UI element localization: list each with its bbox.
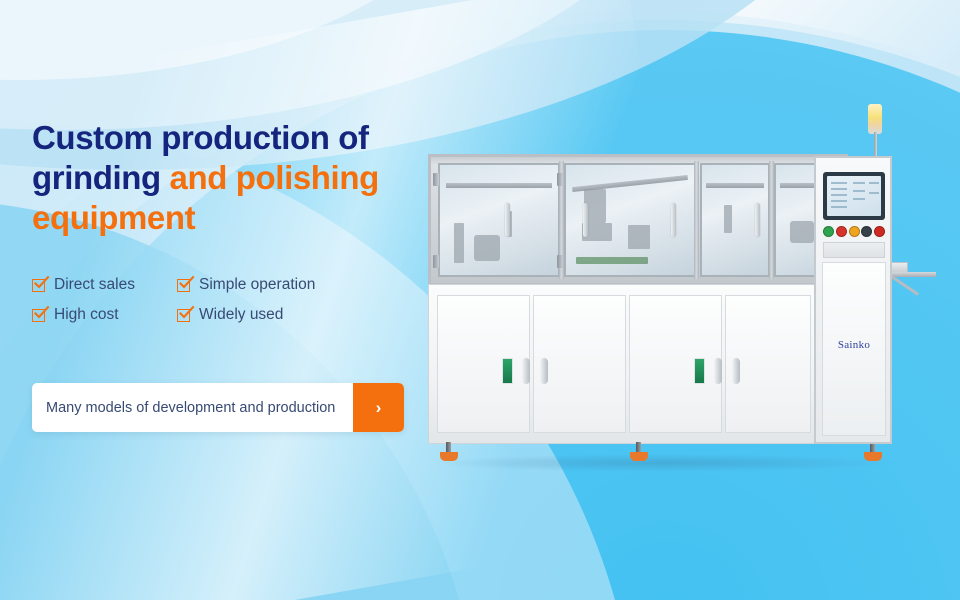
machine-enclosure <box>428 154 848 286</box>
cta-label: Many models of development and productio… <box>32 383 353 432</box>
hero-banner: Custom production of grinding and polish… <box>0 0 960 600</box>
feature-item-widely-used: Widely used <box>177 306 432 324</box>
black-indicator-icon[interactable] <box>861 226 872 237</box>
leveling-foot <box>440 452 458 461</box>
enclosure-door-handle[interactable] <box>505 203 510 237</box>
check-square-icon <box>32 309 45 322</box>
red-stop-indicator-icon[interactable] <box>874 226 885 237</box>
door-latch[interactable] <box>502 358 513 384</box>
side-shelf-brace <box>889 274 919 295</box>
enclosure-hinge <box>433 255 439 268</box>
feature-label: High cost <box>54 306 119 324</box>
door-latch[interactable] <box>694 358 705 384</box>
cabinet-door[interactable] <box>629 295 722 433</box>
enclosure-door-handle[interactable] <box>671 203 676 237</box>
background-arc-top-left-inner <box>0 0 470 80</box>
enclosure-door-handle[interactable] <box>583 203 588 237</box>
machine-cabinet <box>428 284 818 444</box>
hmi-screen <box>827 176 881 216</box>
check-square-icon <box>32 279 45 292</box>
enclosure-mullion <box>694 161 699 279</box>
feature-item-high-cost: High cost <box>32 306 177 324</box>
enclosure-glass-panel <box>438 163 560 277</box>
page-title: Custom production of grinding and polish… <box>32 118 432 238</box>
headline-line-3-accent: equipment <box>32 199 195 236</box>
control-panel: Sainko <box>814 156 892 444</box>
enclosure-hinge <box>433 173 439 186</box>
feature-list: Direct sales Simple operation High cost … <box>32 276 432 324</box>
machine-photo: Sainko <box>418 96 938 486</box>
door-handle[interactable] <box>732 358 740 384</box>
green-indicator-icon[interactable] <box>823 226 834 237</box>
chevron-right-icon[interactable]: › <box>353 383 404 432</box>
signal-tower-pole <box>874 132 877 158</box>
headline-line-1: Custom production of <box>32 119 369 156</box>
headline-line-2-primary: grinding <box>32 159 170 196</box>
cabinet-door[interactable] <box>725 295 811 433</box>
cabinet-door[interactable] <box>533 295 626 433</box>
enclosure-mullion <box>769 161 774 279</box>
amber-indicator-icon[interactable] <box>849 226 860 237</box>
feature-item-simple-operation: Simple operation <box>177 276 432 294</box>
enclosure-hinge <box>557 173 563 186</box>
door-handle[interactable] <box>522 358 530 384</box>
cta-button[interactable]: Many models of development and productio… <box>32 383 404 432</box>
machine-brand-label: Sainko <box>823 339 885 351</box>
enclosure-hinge <box>557 255 563 268</box>
red-indicator-icon[interactable] <box>836 226 847 237</box>
check-square-icon <box>177 279 190 292</box>
indicator-button-row <box>823 226 885 237</box>
feature-label: Widely used <box>199 306 283 324</box>
check-square-icon <box>177 309 190 322</box>
leveling-foot <box>864 452 882 461</box>
enclosure-door-handle[interactable] <box>755 203 760 237</box>
feature-item-direct-sales: Direct sales <box>32 276 177 294</box>
hmi-touchscreen[interactable] <box>823 172 885 220</box>
feature-label: Simple operation <box>199 276 315 294</box>
control-panel-plate <box>823 242 885 258</box>
control-panel-door[interactable]: Sainko <box>822 262 886 436</box>
headline-line-2-accent: and polishing <box>170 159 379 196</box>
cabinet-door[interactable] <box>437 295 530 433</box>
leveling-foot <box>630 452 648 461</box>
feature-label: Direct sales <box>54 276 135 294</box>
door-handle[interactable] <box>540 358 548 384</box>
machine-shadow <box>430 454 900 472</box>
hero-copy: Custom production of grinding and polish… <box>32 118 432 324</box>
door-handle[interactable] <box>714 358 722 384</box>
signal-tower-lamp-icon <box>868 104 882 134</box>
